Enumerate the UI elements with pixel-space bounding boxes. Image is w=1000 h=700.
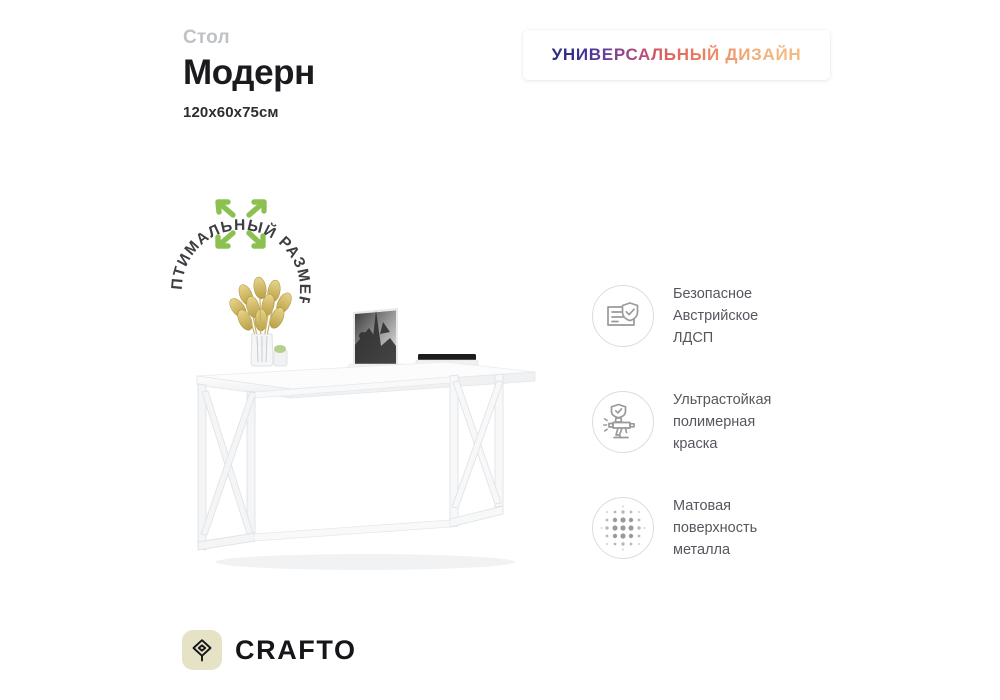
feature-item-matte-metal: Матовая поверхность металла bbox=[592, 495, 922, 561]
header-block: Стол Модерн 120x60x75см bbox=[183, 28, 315, 121]
desk-back-rail bbox=[254, 377, 450, 541]
brand-logo: CRAFTO bbox=[182, 630, 357, 670]
feature-item-safe-laminate: Безопасное Австрийское ЛДСП bbox=[592, 283, 922, 349]
product-photo bbox=[150, 250, 580, 590]
glass-vase-with-yellow-tulips bbox=[226, 276, 294, 366]
desk-left-leg-x-frame bbox=[198, 384, 256, 550]
feature-list: Безопасное Австрийское ЛДСП bbox=[592, 283, 922, 561]
feature-icon-circle bbox=[592, 285, 654, 347]
product-dimensions: 120x60x75см bbox=[183, 104, 315, 121]
page-title: Модерн bbox=[183, 54, 315, 92]
universal-design-badge: УНИВЕРСАЛЬНЫЙ ДИЗАЙН bbox=[523, 30, 830, 80]
feature-label: Матовая поверхность металла bbox=[673, 495, 757, 561]
floor-shadow bbox=[215, 554, 515, 570]
feature-item-polymer-paint: Ультрастойкая полимерная краска bbox=[592, 389, 922, 455]
spray-gun-shield-icon bbox=[603, 402, 643, 442]
product-category-eyebrow: Стол bbox=[183, 28, 315, 47]
feature-icon-circle bbox=[592, 391, 654, 453]
brand-mark bbox=[182, 630, 222, 670]
desk-right-leg-x-frame bbox=[450, 374, 503, 527]
design-badge-label: УНИВЕРСАЛЬНЫЙ ДИЗАЙН bbox=[552, 45, 802, 65]
feature-icon-circle bbox=[592, 497, 654, 559]
feature-label: Ультрастойкая полимерная краска bbox=[673, 389, 771, 455]
leaf-diamond-tree-icon bbox=[189, 637, 215, 663]
brand-name: CRAFTO bbox=[235, 635, 357, 666]
certificate-shield-check-icon bbox=[604, 297, 642, 335]
matte-dot-grid-icon bbox=[599, 504, 647, 552]
open-laptop-with-photo-wallpaper bbox=[347, 308, 409, 368]
feature-label: Безопасное Австрийское ЛДСП bbox=[673, 283, 758, 349]
